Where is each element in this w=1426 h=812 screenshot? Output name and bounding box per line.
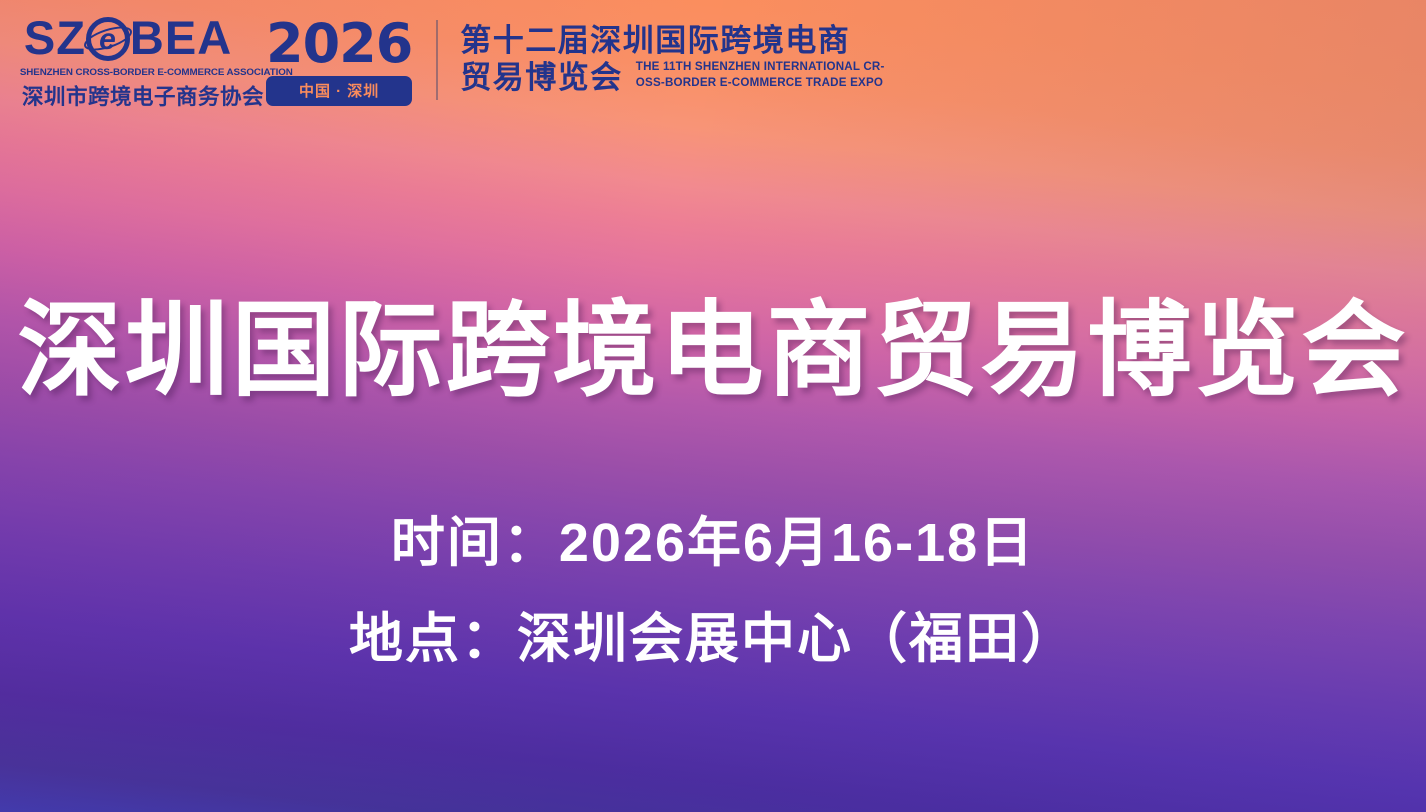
- expo-name-line2: 贸易博览会: [460, 61, 623, 96]
- page-title: 深圳国际跨境电商贸易博览会: [0, 295, 1426, 407]
- expo-name-line2-row: 贸易博览会 THE 11TH SHENZHEN INTERNATIONAL CR…: [460, 59, 884, 96]
- year-location-badge: 中国 · 深圳: [266, 76, 412, 106]
- event-venue-line: 地点：深圳会展中心（福田）: [0, 612, 1426, 666]
- header-divider: [436, 20, 438, 100]
- expo-poster: SZ e BEA SHENZHEN CROSS-BORDER E-COMMERC…: [0, 0, 1426, 812]
- poster-header: SZ e BEA SHENZHEN CROSS-BORDER E-COMMERC…: [0, 0, 1426, 120]
- association-logo: SZ e BEA SHENZHEN CROSS-BORDER E-COMMERC…: [22, 10, 234, 111]
- event-date-line: 时间：2026年6月16-18日: [0, 516, 1426, 570]
- expo-name-english-line2: OSS-BORDER E-COMMERCE TRADE EXPO: [636, 75, 885, 91]
- globe-e-icon: e: [85, 16, 131, 62]
- association-english-name: SHENZHEN CROSS-BORDER E-COMMERCE ASSOCIA…: [20, 67, 236, 78]
- wordmark-prefix: SZ: [24, 15, 86, 61]
- expo-name-block: 第十二届深圳国际跨境电商 贸易博览会 THE 11TH SHENZHEN INT…: [460, 24, 884, 96]
- expo-name-english: THE 11TH SHENZHEN INTERNATIONAL CR- OSS-…: [636, 59, 885, 96]
- year-number: 2026: [266, 17, 412, 71]
- year-block: 2026 中国 · 深圳: [266, 15, 412, 106]
- expo-name-english-line1: THE 11TH SHENZHEN INTERNATIONAL CR-: [636, 59, 885, 75]
- association-wordmark: SZ e BEA: [22, 14, 234, 64]
- globe-e-letter: e: [85, 16, 131, 62]
- wordmark-suffix: BEA: [130, 15, 232, 61]
- event-info-block: 时间：2026年6月16-18日 地点：深圳会展中心（福田）: [0, 516, 1426, 666]
- expo-name-line1: 第十二届深圳国际跨境电商: [460, 24, 884, 59]
- association-chinese-name: 深圳市跨境电子商务协会: [22, 80, 234, 111]
